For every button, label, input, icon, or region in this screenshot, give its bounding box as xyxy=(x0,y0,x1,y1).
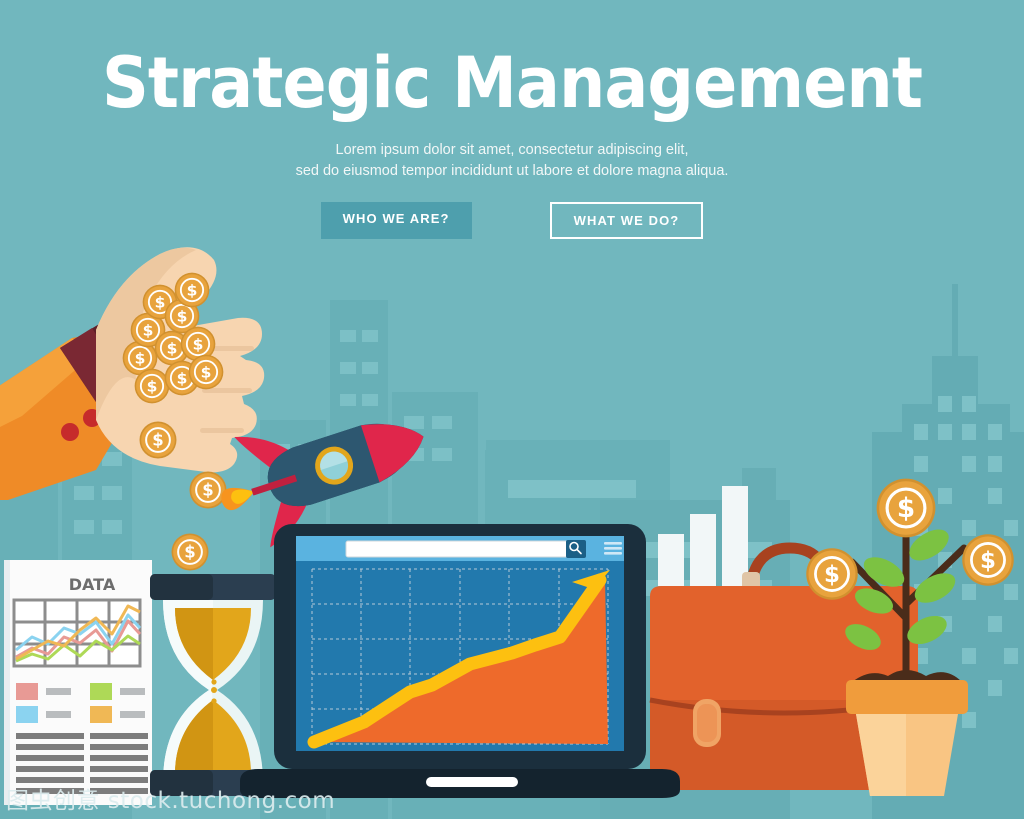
document-chart xyxy=(14,600,140,666)
hourglass-icon xyxy=(150,574,276,796)
who-we-are-button[interactable]: WHO WE ARE? xyxy=(321,202,472,239)
falling-coin-3 xyxy=(172,534,209,571)
falling-coin-1 xyxy=(140,422,177,459)
stock-watermark: 图虫创意 stock.tuchong.com xyxy=(6,781,335,815)
hamburger-menu-icon xyxy=(604,542,622,555)
falling-coin-2 xyxy=(190,472,227,509)
cta-button-row: WHO WE ARE? WHAT WE DO? xyxy=(0,202,1024,239)
search-input xyxy=(346,541,568,557)
poster-canvas: Strategic Management Lorem ipsum dolor s… xyxy=(0,0,1024,819)
data-document: DATA xyxy=(4,560,152,805)
page-subtitle: Lorem ipsum dolor sit amet, consectetur … xyxy=(0,140,1024,182)
page-title: Strategic Management xyxy=(36,48,988,118)
bar-chart xyxy=(658,486,748,586)
hand-with-coins-icon xyxy=(0,247,264,500)
subtitle-line-2: sed do eiusmod tempor incididunt ut labo… xyxy=(0,161,1024,182)
subtitle-line-1: Lorem ipsum dolor sit amet, consectetur … xyxy=(0,140,1024,161)
document-title: DATA xyxy=(69,575,116,594)
laptop xyxy=(240,524,680,798)
trackpad xyxy=(426,777,518,787)
header: Strategic Management Lorem ipsum dolor s… xyxy=(0,0,1024,239)
what-we-do-button[interactable]: WHAT WE DO? xyxy=(550,202,704,239)
